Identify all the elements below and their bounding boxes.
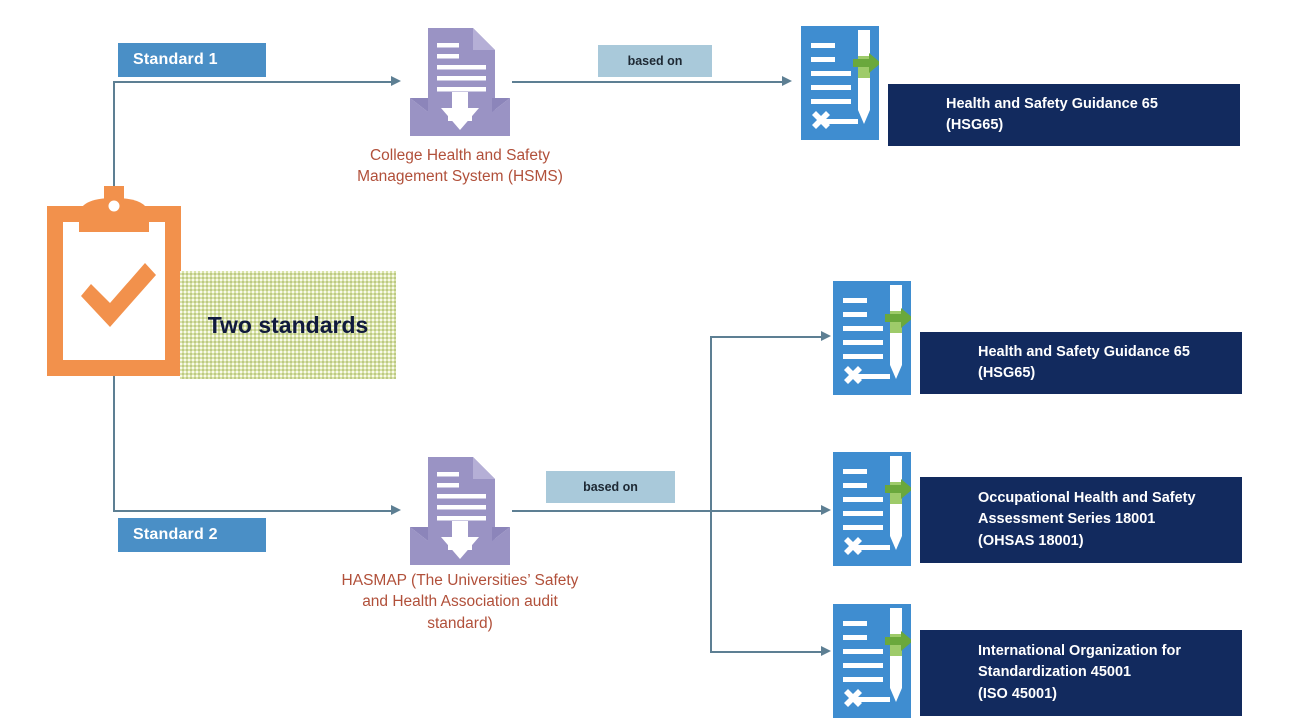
connector-fanout-to-ohsas xyxy=(710,510,823,512)
standard-box-ohsas-18001-line-3: (OHSAS 18001) xyxy=(978,531,1242,552)
standard-box-ohsas-18001-line-1: Occupational Health and Safety xyxy=(978,488,1242,509)
connector-standard1-to-hsms xyxy=(113,81,393,83)
chip-standard-2[interactable]: Standard 2 xyxy=(119,519,265,551)
standard-box-hsg65-bottom-line-1: Health and Safety Guidance 65 xyxy=(978,342,1242,363)
document-download-icon xyxy=(408,455,512,567)
connector-hasmap-to-fanout xyxy=(512,510,712,512)
two-standards-badge: Two standards xyxy=(180,271,396,379)
caption-hasmap-line-3: standard) xyxy=(427,615,492,632)
chip-standard-1[interactable]: Standard 1 xyxy=(119,44,265,76)
chip-based-on-standard-1: based on xyxy=(598,45,712,77)
caption-hasmap-line-2: and Health Association audit xyxy=(362,593,558,610)
standard-box-hsg65-top: Health and Safety Guidance 65 (HSG65) xyxy=(888,84,1240,146)
standard-box-hsg65-top-line-2: (HSG65) xyxy=(946,115,1240,136)
caption-hsms-line-1: College Health and Safety xyxy=(370,147,550,164)
two-standards-label: Two standards xyxy=(208,312,369,339)
caption-hsms: College Health and Safety Management Sys… xyxy=(330,145,590,188)
clipboard-check-icon xyxy=(44,186,184,378)
caption-hasmap: HASMAP (The Universities’ Safety and Hea… xyxy=(305,570,615,634)
diagram-canvas: Two standards Standard 1 College Health … xyxy=(0,0,1294,728)
standard-box-iso-45001: International Organization for Standardi… xyxy=(920,630,1242,716)
caption-hasmap-line-1: HASMAP (The Universities’ Safety xyxy=(342,572,579,589)
connector-fanout-to-hsg65 xyxy=(710,336,823,338)
chip-based-on-standard-2: based on xyxy=(546,471,675,503)
chip-based-on-standard-1-label: based on xyxy=(628,54,683,68)
standard-box-ohsas-18001: Occupational Health and Safety Assessmen… xyxy=(920,477,1242,563)
arrowhead-fanout-to-ohsas xyxy=(821,505,831,515)
connector-hsms-to-hsg65 xyxy=(512,81,784,83)
arrowhead-hsms-to-hsg65 xyxy=(782,76,792,86)
arrowhead-fanout-to-hsg65 xyxy=(821,331,831,341)
connector-fanout-to-iso xyxy=(710,651,823,653)
caption-hsms-line-2: Management System (HSMS) xyxy=(357,168,563,185)
checklist-icon xyxy=(801,26,879,140)
checklist-icon xyxy=(833,452,911,566)
chip-standard-2-label: Standard 2 xyxy=(133,526,218,544)
connector-fanout-vertical xyxy=(710,336,712,653)
standard-box-hsg65-bottom-line-2: (HSG65) xyxy=(978,363,1242,384)
arrowhead-standard2-to-hasmap xyxy=(391,505,401,515)
standard-box-iso-45001-line-2: Standardization 45001 xyxy=(978,662,1242,683)
standard-box-iso-45001-line-3: (ISO 45001) xyxy=(978,684,1242,705)
chip-standard-1-label: Standard 1 xyxy=(133,51,218,69)
arrowhead-standard1-to-hsms xyxy=(391,76,401,86)
arrowhead-fanout-to-iso xyxy=(821,646,831,656)
standard-box-iso-45001-line-1: International Organization for xyxy=(978,641,1242,662)
checklist-icon xyxy=(833,281,911,395)
checklist-icon xyxy=(833,604,911,718)
standard-box-hsg65-bottom: Health and Safety Guidance 65 (HSG65) xyxy=(920,332,1242,394)
standard-box-ohsas-18001-line-2: Assessment Series 18001 xyxy=(978,509,1242,530)
standard-box-hsg65-top-line-1: Health and Safety Guidance 65 xyxy=(946,94,1240,115)
connector-standard2-to-hasmap xyxy=(113,510,393,512)
chip-based-on-standard-2-label: based on xyxy=(583,480,638,494)
document-download-icon xyxy=(408,26,512,138)
